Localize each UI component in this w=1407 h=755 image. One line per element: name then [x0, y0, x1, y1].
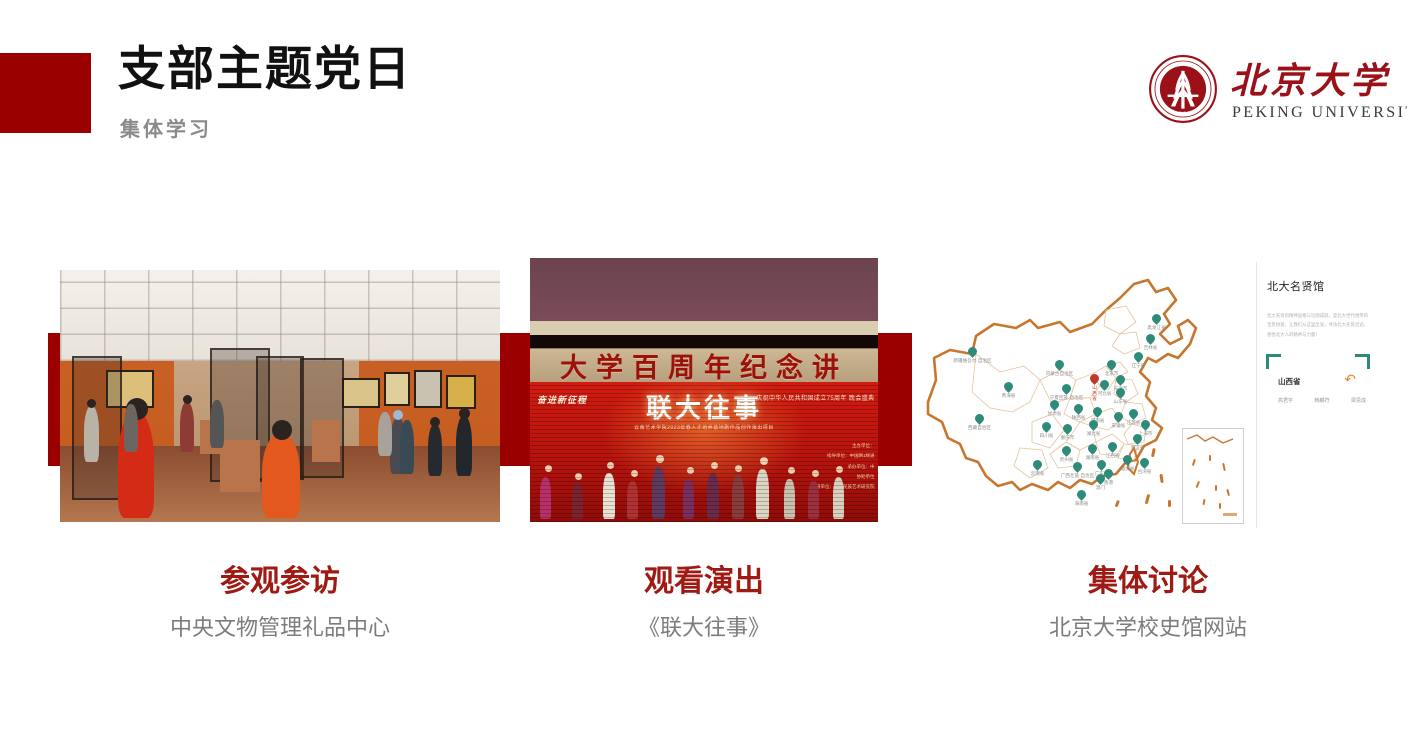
pin-marker-icon	[1040, 420, 1053, 433]
exhibit-plinth	[220, 440, 260, 492]
pin-label: 台湾省	[1138, 470, 1152, 476]
map-pin-guizhou[interactable]: 贵州省	[1062, 446, 1071, 458]
visitor	[210, 400, 224, 448]
visitor-head	[87, 399, 96, 408]
south-china-sea-inset	[1182, 428, 1244, 524]
map-pin-sichuan[interactable]: 四川省	[1042, 422, 1051, 434]
inset-map-outline	[1183, 429, 1241, 521]
pin-marker-icon	[1127, 407, 1140, 420]
logo-name-en: PEKING UNIVERSITY	[1232, 104, 1407, 122]
map-pin-hubei[interactable]: 湖北省	[1089, 420, 1098, 432]
map-pin-beijing[interactable]: 北京市	[1107, 360, 1116, 372]
pin-marker-icon	[1144, 332, 1157, 345]
visitor-child	[428, 424, 442, 476]
photo-map-website: 山西省 新疆维吾尔 自治区 内蒙古自治区 黑龙江省 吉林省 辽宁省 北京市 天津…	[920, 262, 1376, 528]
map-pin-anhui[interactable]: 安徽省	[1114, 412, 1123, 424]
corner-bracket-top-left	[1266, 354, 1281, 369]
map-pin-jilin[interactable]: 吉林省	[1146, 334, 1155, 346]
auditorium-ceiling	[530, 258, 878, 329]
pin-label: 江苏省	[1127, 421, 1141, 427]
hall-banner: 大学百周年纪念讲	[530, 348, 878, 383]
pin-marker-icon	[1150, 312, 1163, 325]
photo-museum-visit	[60, 270, 500, 522]
card-subtitle: 北京大学校史馆网站	[920, 610, 1376, 642]
province-detail-card: 山西省 ↶ 高君宇 韩麟符 梁思成	[1266, 354, 1370, 524]
pin-marker-icon	[1105, 358, 1118, 371]
page-title: 支部主题党日	[118, 45, 412, 94]
pku-seal-icon: 1898	[1148, 54, 1218, 124]
visitor	[124, 404, 138, 452]
map-pin-shanghai[interactable]: 上海市	[1141, 420, 1150, 432]
pin-marker-icon	[1094, 472, 1107, 485]
pin-label: 江西省	[1106, 454, 1120, 460]
pin-marker-icon	[973, 412, 986, 425]
pin-label: 安徽省	[1112, 424, 1126, 430]
pin-label: 河北省	[1098, 392, 1112, 398]
map-pin-tianjin[interactable]: 天津市	[1116, 375, 1125, 387]
map-pin-neimenggu[interactable]: 内蒙古自治区	[1055, 360, 1064, 372]
map-pin-heilongjiang[interactable]: 黑龙江省	[1152, 314, 1161, 326]
panel-description: 北大先贤的精神品格与功勋成就，是北大世代相传的宝贵财富，让我们从这里出发，寻访北…	[1267, 312, 1369, 340]
pin-label: 广西壮族 自治区	[1061, 474, 1095, 480]
map-pin-hebei[interactable]: 河北省	[1100, 380, 1109, 392]
pin-marker-icon	[1072, 402, 1085, 415]
map-pin-taiwan[interactable]: 台湾省	[1140, 458, 1149, 470]
peking-university-logo: 1898 北京大学 PEKING UNIVERSITY	[1148, 52, 1376, 130]
artwork-frame	[384, 372, 410, 406]
photo-stage-performance: 大学百周年纪念讲 奋进新征程 庆祝中华人民共和国成立75周年 晚会盛典 联大往事…	[530, 258, 878, 522]
pin-label: 吉林省	[1144, 346, 1158, 352]
logo-name-cn: 北京大学	[1230, 52, 1390, 104]
visitor-head	[459, 408, 470, 419]
pin-marker-icon	[1053, 358, 1066, 371]
visitor	[456, 416, 472, 476]
pin-marker-icon	[1002, 380, 1015, 393]
map-pin-qinghai[interactable]: 青海省	[1004, 382, 1013, 394]
pin-marker-icon	[1114, 373, 1127, 386]
pin-label: 福建省	[1121, 467, 1135, 473]
pin-label: 湖北省	[1087, 432, 1101, 438]
map-pin-yunnan[interactable]: 云南省	[1033, 460, 1042, 472]
pin-marker-icon	[1071, 460, 1084, 473]
pin-marker-icon	[1138, 456, 1151, 469]
map-pin-gansu[interactable]: 甘肃省	[1050, 400, 1059, 412]
pin-label: 甘肃省	[1048, 412, 1062, 418]
exhibit-plinth	[312, 420, 340, 462]
map-pin-xizang[interactable]: 西藏自治区	[975, 414, 984, 426]
corner-bracket-top-right	[1355, 354, 1370, 369]
artwork-frame	[342, 378, 380, 408]
visitor-orange-coat	[262, 434, 300, 518]
name-item[interactable]: 韩麟符	[1314, 397, 1329, 404]
pin-label: 云南省	[1031, 472, 1045, 478]
card-title: 集体讨论	[920, 556, 1376, 600]
pin-marker-icon	[1060, 444, 1073, 457]
pin-label: 陕西省	[1072, 416, 1086, 422]
name-item[interactable]: 梁思成	[1351, 397, 1366, 404]
pin-marker-icon	[1048, 398, 1061, 411]
pin-marker-icon	[1106, 440, 1119, 453]
pin-marker-icon	[1098, 378, 1111, 391]
pin-label: 海南省	[1075, 502, 1089, 508]
panel-title: 北大名贤馆	[1267, 278, 1325, 294]
china-map[interactable]: 山西省 新疆维吾尔 自治区 内蒙古自治区 黑龙江省 吉林省 辽宁省 北京市 天津…	[920, 262, 1250, 528]
svg-text:1898: 1898	[1175, 111, 1192, 118]
name-item[interactable]: 高君宇	[1278, 397, 1293, 404]
pin-label: 澳门	[1096, 486, 1105, 492]
pin-marker-icon	[1091, 405, 1104, 418]
artwork-frame	[446, 375, 476, 409]
pin-marker-icon	[1132, 350, 1145, 363]
pin-marker-icon	[1031, 458, 1044, 471]
card-title: 参观参访	[60, 556, 500, 600]
hall-banner-text: 大学百周年纪念讲	[560, 348, 848, 383]
visitor-head	[393, 410, 403, 420]
map-pin-macau[interactable]: 澳门	[1096, 474, 1105, 486]
pin-marker-icon	[1139, 418, 1152, 431]
map-pin-liaoning[interactable]: 辽宁省	[1134, 352, 1143, 364]
visitor-head	[430, 417, 440, 427]
pin-label: 香港	[1104, 481, 1113, 487]
page-subtitle: 集体学习	[120, 113, 212, 142]
pin-marker-icon	[1061, 422, 1074, 435]
ceiling-coffer-grid	[60, 270, 500, 361]
pin-label: 辽宁省	[1132, 364, 1146, 370]
pin-label: 山东省	[1114, 400, 1128, 406]
map-pin-shaanxi[interactable]: 陕西省	[1074, 404, 1083, 416]
artwork-frame	[414, 370, 442, 408]
pin-marker-icon	[966, 345, 979, 358]
pin-marker-icon	[1087, 418, 1100, 431]
card-subtitle: 《联大往事》	[530, 610, 878, 642]
pin-label: 新疆维吾尔 自治区	[953, 359, 991, 365]
map-pin-jiangsu[interactable]: 江苏省	[1129, 409, 1138, 421]
site-side-panel: 北大名贤馆 北大先贤的精神品格与功勋成就，是北大世代相传的宝贵财富，让我们从这里…	[1256, 262, 1376, 528]
pin-label: 四川省	[1040, 434, 1054, 440]
pin-label: 重庆市	[1061, 436, 1075, 442]
map-pin-guangxi[interactable]: 广西壮族 自治区	[1073, 462, 1082, 474]
card-title: 观看演出	[530, 556, 878, 600]
pin-label: 西藏自治区	[968, 426, 991, 432]
pin-label: 青海省	[1002, 394, 1016, 400]
pin-label: 贵州省	[1060, 458, 1074, 464]
pin-label: 山西省	[1092, 386, 1098, 403]
pin-marker-icon	[1114, 386, 1127, 399]
led-screen: 奋进新征程 庆祝中华人民共和国成立75周年 晚会盛典 联大往事 云南艺术学院20…	[530, 382, 878, 522]
map-pin-henan[interactable]: 河南省	[1093, 407, 1102, 419]
map-pin-ningxia[interactable]: 宁夏回族 自治区	[1062, 384, 1071, 396]
map-pin-zhejiang[interactable]: 浙江省	[1133, 434, 1142, 446]
visitor-head	[272, 420, 292, 440]
map-pin-chongqing[interactable]: 重庆市	[1063, 424, 1072, 436]
museum-ceiling	[60, 270, 500, 361]
header-accent-block	[0, 53, 91, 133]
map-pin-shandong[interactable]: 山东省	[1116, 388, 1125, 400]
map-pin-hunan[interactable]: 湖南省	[1088, 444, 1097, 456]
pin-marker-icon	[1086, 442, 1099, 455]
name-list: 高君宇 韩麟符 梁思成	[1278, 397, 1366, 404]
map-pin-xinjiang[interactable]: 新疆维吾尔 自治区	[968, 347, 977, 359]
visitor	[84, 406, 99, 462]
map-pin-shanxi-selected[interactable]: 山西省	[1090, 374, 1099, 386]
pin-label: 黑龙江省	[1147, 326, 1165, 332]
pin-label: 内蒙古自治区	[1046, 372, 1074, 378]
pin-marker-icon	[1112, 410, 1125, 423]
pin-marker-icon	[1060, 382, 1073, 395]
pin-marker-icon	[1075, 488, 1088, 501]
visitor	[400, 420, 414, 474]
card-subtitle: 中央文物管理礼品中心	[60, 610, 500, 642]
selected-province-label: 山西省	[1278, 376, 1301, 387]
visitor	[378, 412, 392, 456]
map-pin-jiangxi[interactable]: 江西省	[1108, 442, 1117, 454]
map-pin-fujian[interactable]: 福建省	[1123, 455, 1132, 467]
pin-marker-icon	[1131, 432, 1144, 445]
led-scanlines	[530, 382, 878, 522]
pin-marker-icon	[1121, 453, 1134, 466]
visitor	[180, 402, 194, 452]
ceiling-beam	[530, 321, 878, 334]
visitor-head	[183, 395, 192, 404]
refresh-icon[interactable]: ↶	[1344, 372, 1356, 386]
map-pin-hainan[interactable]: 海南省	[1077, 490, 1086, 502]
pin-label: 浙江省	[1131, 446, 1145, 452]
